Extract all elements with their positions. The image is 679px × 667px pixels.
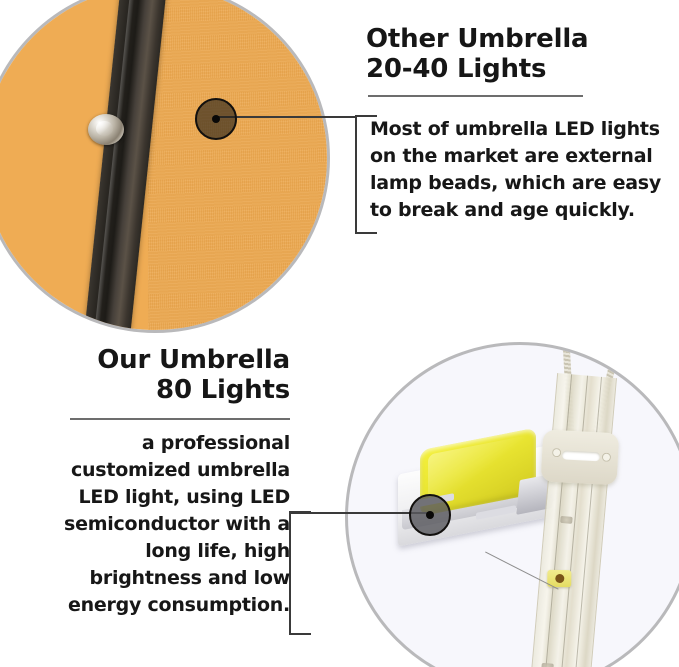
bead-highlight-facet <box>96 121 113 136</box>
other-umbrella-heading: Other Umbrella 20-40 Lights <box>366 24 666 85</box>
our-umbrella-heading: Our Umbrella 80 Lights <box>58 345 290 406</box>
our-umbrella-body-text: a professional customized umbrella LED l… <box>35 430 290 619</box>
our-umbrella-divider <box>70 418 290 420</box>
our-umbrella-bracket <box>289 511 311 635</box>
bracket-bottom-stub <box>355 232 377 234</box>
other-umbrella-divider <box>368 95 583 97</box>
external-lamp-bead <box>88 114 124 145</box>
clip-hole-left <box>552 448 561 457</box>
bracket-bottom-stub <box>289 633 311 635</box>
other-umbrella-heading-line2: 20-40 Lights <box>366 54 666 84</box>
infographic-canvas: Other Umbrella 20-40 Lights Most of umbr… <box>0 0 679 667</box>
our-umbrella-heading-line2: 80 Lights <box>58 375 290 405</box>
our-umbrella-photo-circle <box>345 342 679 667</box>
canopy-fabric <box>0 0 327 330</box>
screw-lower <box>541 663 554 667</box>
other-umbrella-heading-line1: Other Umbrella <box>366 24 666 54</box>
mini-led-dot <box>555 574 564 583</box>
bracket-vertical <box>355 115 357 234</box>
marker-dot-icon <box>212 115 220 123</box>
clip-slot <box>562 450 600 461</box>
other-umbrella-body-text: Most of umbrella LED lights on the marke… <box>370 116 679 224</box>
marker-dot-icon <box>426 511 434 519</box>
clip-hole-right <box>602 453 611 462</box>
bracket-top-stub <box>289 511 311 513</box>
fabric-panel-right <box>148 0 327 330</box>
other-umbrella-photo-circle <box>0 0 330 333</box>
our-umbrella-heading-line1: Our Umbrella <box>58 345 290 375</box>
screw-upper <box>560 516 573 524</box>
callout-marker-smd-led <box>409 494 451 536</box>
mounting-clip <box>541 429 620 485</box>
callout-marker-lamp-bead <box>195 98 237 140</box>
